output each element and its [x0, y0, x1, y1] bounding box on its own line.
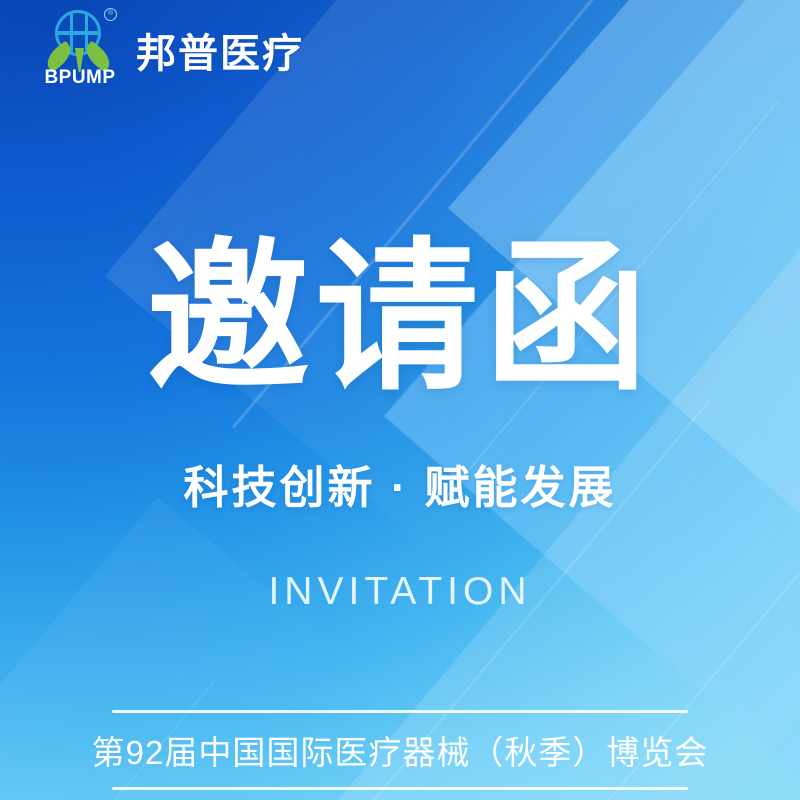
footer-divider-bottom: [112, 787, 688, 790]
page-title: 邀请函: [146, 236, 653, 399]
poster-footer: 第92届中国国际医疗器械（秋季）博览会: [0, 710, 800, 790]
footer-divider-top: [112, 710, 688, 713]
invitation-english-label: INVITATION: [268, 572, 531, 611]
company-name: 邦普医疗: [136, 21, 304, 79]
event-name: 第92届中国国际医疗器械（秋季）博览会: [92, 735, 709, 771]
registered-trademark-icon: ®: [104, 8, 117, 21]
brand-header: ® BPUMP 邦普医疗: [42, 8, 304, 90]
bpump-flower-logo-icon: ® BPUMP: [42, 8, 118, 90]
poster-subtitle: 科技创新 · 赋能发展: [184, 465, 617, 510]
logo-wordmark: BPUMP: [42, 68, 118, 87]
poster-content: 邀请函 科技创新 · 赋能发展 INVITATION 第92届中国国际医疗器械（…: [0, 0, 800, 800]
invitation-poster: ® BPUMP 邦普医疗 邀请函 科技创新 · 赋能发展 INVITATION …: [0, 0, 800, 800]
logo-grid-bar-left: [70, 14, 73, 52]
